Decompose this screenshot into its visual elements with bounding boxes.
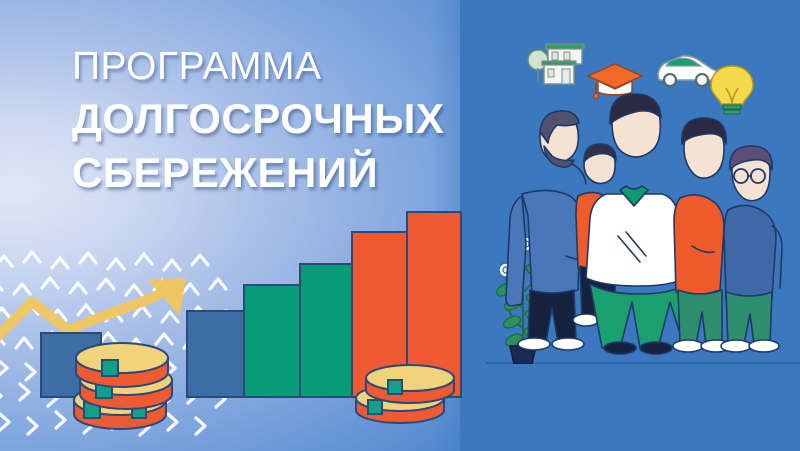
poster-canvas: ПРОГРАММА ДОЛГОСРОЧНЫХ СБЕРЕЖЕНИЙ [0, 0, 800, 451]
page-title: ПРОГРАММА ДОЛГОСРОЧНЫХ СБЕРЕЖЕНИЙ [72, 44, 502, 198]
coin-stack-icon-right [352, 364, 464, 432]
chart-bar-2 [186, 310, 248, 398]
family-member-mother [673, 118, 731, 352]
title-line-3: СБЕРЕЖЕНИЙ [72, 148, 502, 198]
family-illustration [500, 76, 800, 366]
title-line-1: ПРОГРАММА [72, 44, 502, 90]
chart-bar-3 [243, 284, 305, 398]
title-line-2: ДОЛГОСРОЧНЫХ [72, 94, 502, 144]
coin-stack-icon [68, 340, 188, 432]
ground-fill [486, 364, 800, 451]
family-member-grandmother [721, 146, 782, 352]
